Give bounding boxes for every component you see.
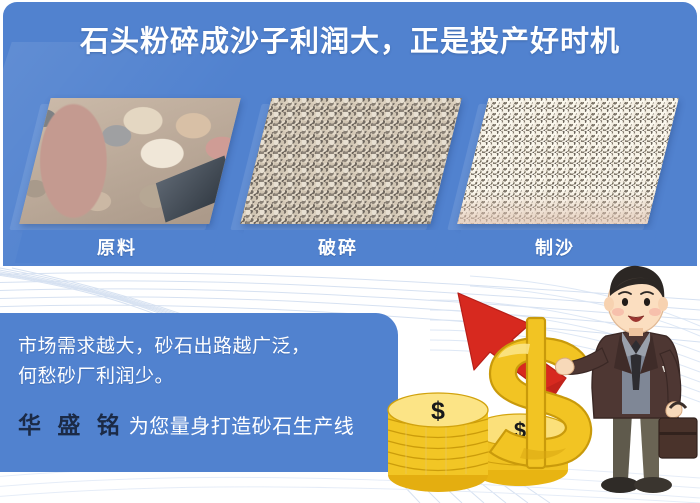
page-title: 石头粉碎成沙子利润大，正是投产好时机: [3, 28, 697, 57]
brand-tagline: 为您量身打造砂石生产线: [129, 416, 355, 438]
process-steps: 原料 破碎: [3, 98, 697, 266]
river-pebbles-photo: [19, 98, 240, 224]
process-step-sand-making[interactable]: 制沙: [473, 98, 669, 266]
promo-text-line-2: 何愁砂厂利润少。: [18, 361, 174, 388]
crushed-gravel-photo: [240, 98, 461, 224]
businessman-profit-illustration: $ $: [370, 262, 700, 503]
brand-name: 华 盛 铭: [18, 412, 125, 438]
svg-text:$: $: [431, 397, 445, 425]
promo-text-line-1: 市场需求越大，砂石出路越广泛，: [18, 331, 311, 358]
process-step-raw-material[interactable]: 原料: [35, 98, 231, 266]
step-label-bar: 原料: [15, 230, 219, 263]
step-label-text: 原料: [19, 230, 215, 263]
process-step-crushing[interactable]: 破碎: [256, 98, 452, 266]
step-label-bar: 制沙: [453, 230, 657, 263]
step-label-bar: 破碎: [236, 230, 440, 263]
brand-row: 华 盛 铭为您量身打造砂石生产线: [18, 414, 354, 437]
header-panel: 石头粉碎成沙子利润大，正是投产好时机 原料: [3, 2, 697, 266]
machine-sand-photo: [457, 98, 678, 224]
coin-stack-icon: $: [388, 393, 488, 492]
step-label-text: 破碎: [240, 230, 436, 263]
promo-banner: 石头粉碎成沙子利润大，正是投产好时机 原料: [0, 0, 700, 503]
step-label-text: 制沙: [457, 230, 653, 263]
